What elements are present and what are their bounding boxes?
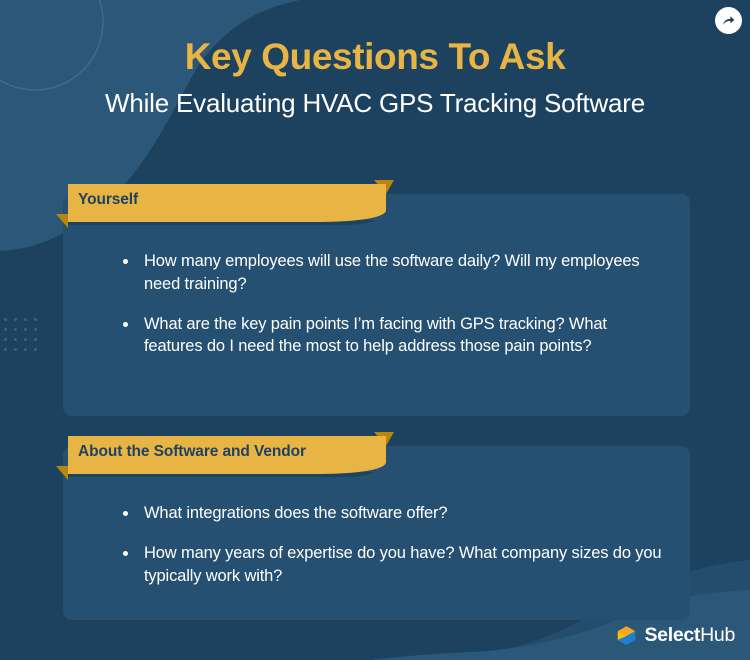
section-heading-ribbon: About the Software and Vendor — [56, 432, 406, 478]
ribbon-fold-left — [56, 466, 68, 480]
ribbon-fold-left — [56, 214, 68, 228]
header: Key Questions To Ask While Evaluating HV… — [0, 0, 750, 117]
infographic-canvas: Key Questions To Ask While Evaluating HV… — [0, 0, 750, 660]
page-subtitle: While Evaluating HVAC GPS Tracking Softw… — [0, 89, 750, 118]
dot-grid-decoration — [4, 318, 38, 352]
logo-name-bold: Select — [644, 624, 700, 646]
list-item: How many years of expertise do you have?… — [120, 542, 662, 588]
section-heading-text: Yourself — [78, 180, 138, 220]
question-list: How many employees will use the software… — [120, 250, 662, 358]
question-list: What integrations does the software offe… — [120, 502, 662, 587]
section-heading-ribbon: Yourself — [56, 180, 406, 226]
selecthub-wordmark: SelectHub — [644, 624, 735, 647]
page-title: Key Questions To Ask — [0, 38, 750, 77]
list-item: How many employees will use the software… — [120, 250, 662, 296]
selecthub-cube-icon — [616, 625, 637, 646]
section-heading-text: About the Software and Vendor — [78, 432, 306, 472]
list-item: What integrations does the software offe… — [120, 502, 662, 525]
logo-name-light: Hub — [700, 624, 735, 646]
list-item: What are the key pain points I’m facing … — [120, 313, 662, 359]
selecthub-logo[interactable]: SelectHub — [616, 624, 735, 647]
